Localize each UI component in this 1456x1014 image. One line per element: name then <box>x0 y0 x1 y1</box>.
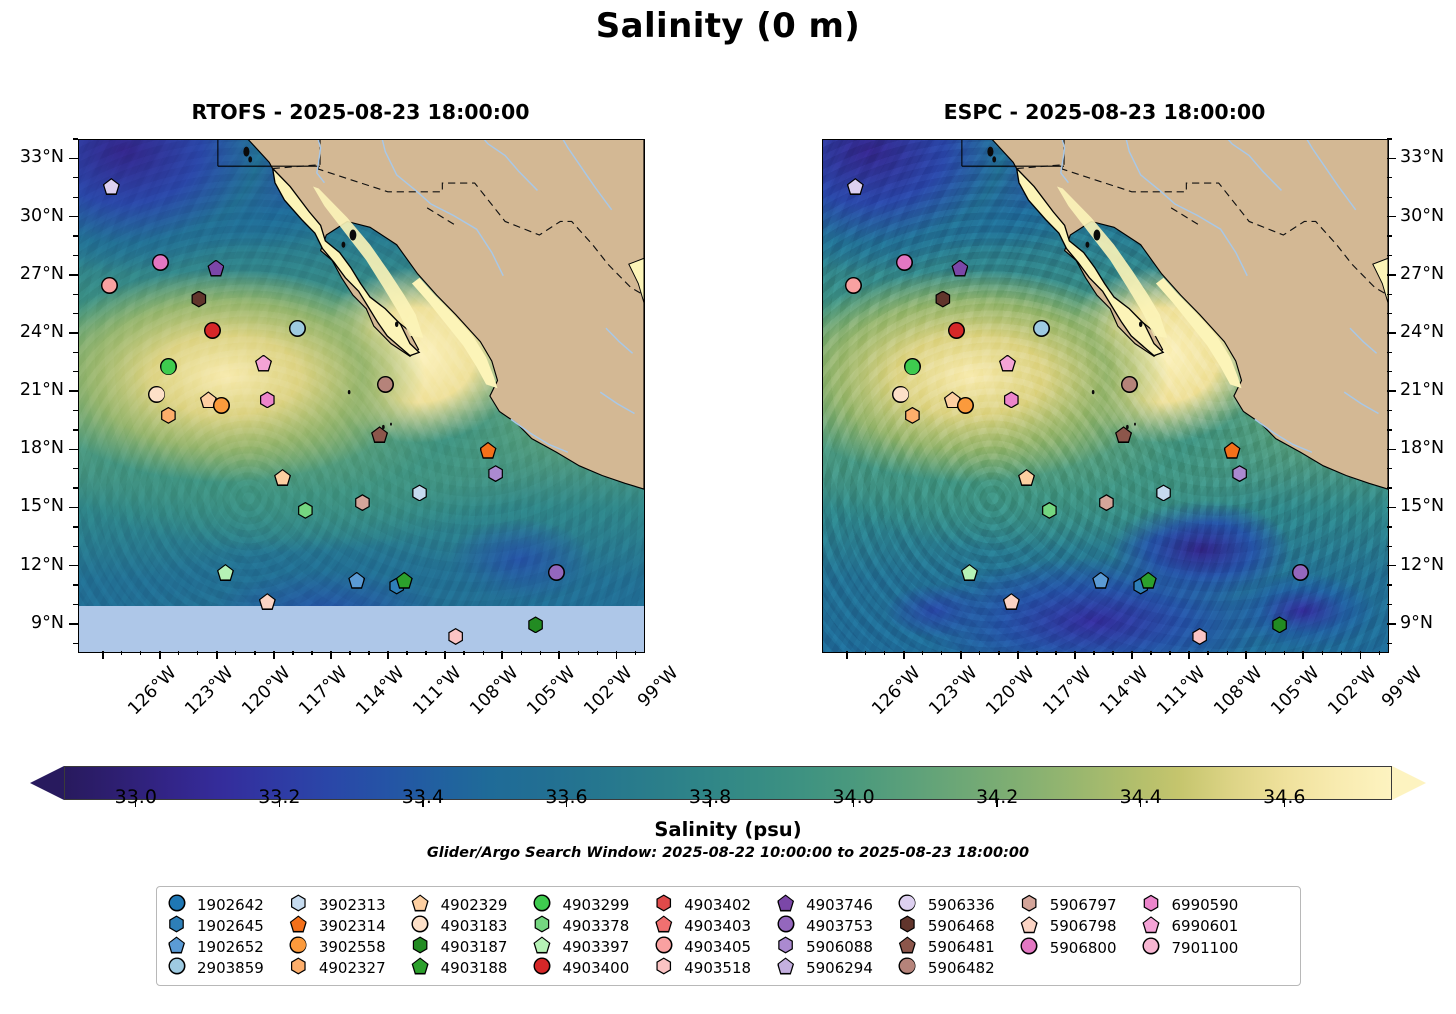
float-marker[interactable] <box>1018 469 1035 486</box>
y-tick <box>1387 390 1396 392</box>
legend-float-id: 3902558 <box>319 938 386 956</box>
legend-column: 5906336590646859064815906482 <box>899 894 995 978</box>
y-tick-label: 24°N <box>0 322 64 342</box>
x-minor-tick <box>1379 651 1380 655</box>
legend-marker-circle-icon <box>899 958 919 978</box>
x-minor-tick <box>941 651 942 655</box>
float-marker[interactable] <box>892 386 909 403</box>
float-marker[interactable] <box>1121 376 1138 393</box>
legend-float-id: 5906798 <box>1050 917 1117 935</box>
x-minor-tick <box>1169 651 1170 655</box>
legend-marker-circle-icon <box>168 958 188 978</box>
float-marker[interactable] <box>411 484 428 501</box>
legend-float-id: 4903183 <box>441 917 508 935</box>
float-marker[interactable] <box>204 322 221 339</box>
island <box>342 242 346 248</box>
float-marker[interactable] <box>348 572 365 589</box>
y-minor-tick <box>73 643 78 644</box>
float-marker[interactable] <box>207 260 224 277</box>
x-tick <box>558 651 560 659</box>
x-tick-label: 126°W <box>868 663 924 719</box>
x-tick-label: 126°W <box>124 663 180 719</box>
x-tick-label: 123°W <box>181 663 237 719</box>
y-tick <box>69 565 78 567</box>
float-marker[interactable] <box>1003 593 1020 610</box>
legend-float-id: 4903405 <box>684 938 751 956</box>
y-tick-label: 30°N <box>0 206 64 226</box>
x-tick-label: 105°W <box>524 663 580 719</box>
float-marker[interactable] <box>480 442 497 459</box>
x-tick-label: 117°W <box>1039 663 1095 719</box>
legend-item[interactable]: 2903859 <box>168 957 264 978</box>
y-tick-label: 9°N <box>1400 613 1456 633</box>
legend-spacer <box>629 894 655 978</box>
y-tick-label: 18°N <box>0 438 64 458</box>
legend-item[interactable]: 4903397 <box>533 936 629 957</box>
legend-column: 699059069906017901100 <box>1143 894 1239 978</box>
legend-spacer <box>751 894 777 978</box>
y-tick-label: 33°N <box>1400 147 1456 167</box>
legend-item[interactable]: 1902642 <box>168 894 264 915</box>
legend-float-id: 5906294 <box>806 959 873 977</box>
y-tick <box>1387 565 1396 567</box>
x-tick-label: 114°W <box>352 663 408 719</box>
x-tick-label: 111°W <box>1153 663 1209 719</box>
x-minor-tick <box>349 651 350 655</box>
legend-float-id: 5906800 <box>1050 939 1117 957</box>
float-marker[interactable] <box>259 391 276 408</box>
float-marker[interactable] <box>951 260 968 277</box>
y-minor-tick <box>1387 429 1392 430</box>
legend-marker-pentagon-icon <box>412 958 432 978</box>
float-marker[interactable] <box>904 358 921 375</box>
float-marker[interactable] <box>1191 628 1208 645</box>
float-marker[interactable] <box>101 277 118 294</box>
legend-item[interactable]: 4903299 <box>533 894 629 915</box>
x-tick-label: 102°W <box>581 663 637 719</box>
legend-spacer <box>873 894 899 978</box>
x-tick <box>330 651 332 659</box>
y-minor-tick <box>73 255 78 256</box>
x-minor-tick <box>884 651 885 655</box>
y-tick-label: 27°N <box>0 264 64 284</box>
legend-marker-circle-icon <box>1143 938 1163 958</box>
x-minor-tick <box>1093 651 1094 655</box>
float-marker[interactable] <box>160 358 177 375</box>
legend-marker-circle-icon <box>655 937 675 957</box>
legend-item[interactable]: 3902314 <box>290 915 386 936</box>
x-tick <box>1017 651 1019 659</box>
x-minor-tick <box>1207 651 1208 655</box>
legend-item[interactable]: 4902329 <box>412 894 508 915</box>
panel-title-rtofs: RTOFS - 2025-08-23 18:00:00 <box>78 100 643 124</box>
x-tick <box>501 651 503 659</box>
x-minor-tick <box>597 651 598 655</box>
colorbar-tick-label: 34.2 <box>952 786 1042 808</box>
float-marker[interactable] <box>1271 616 1288 633</box>
legend-column: 3902313390231439025584902327 <box>290 894 386 978</box>
x-tick <box>616 651 618 659</box>
y-tick <box>69 449 78 451</box>
legend-float-id: 5906481 <box>928 938 995 956</box>
y-tick <box>69 507 78 509</box>
legend-float-id: 6990601 <box>1172 917 1239 935</box>
legend-float-id: 4903397 <box>562 938 629 956</box>
y-minor-tick <box>73 410 78 411</box>
x-tick <box>1074 651 1076 659</box>
legend-marker-circle-icon <box>1021 938 1041 958</box>
legend-item[interactable]: 4902327 <box>290 957 386 978</box>
x-tick <box>960 651 962 659</box>
y-minor-tick <box>1387 177 1392 178</box>
float-marker[interactable] <box>1115 426 1132 443</box>
x-minor-tick <box>1227 651 1228 655</box>
colorbar-extend-min <box>30 766 64 800</box>
x-minor-tick <box>998 651 999 655</box>
legend-item[interactable]: 6990601 <box>1143 916 1239 938</box>
legend-float-id: 6990590 <box>1172 896 1239 914</box>
legend-item[interactable]: 5906336 <box>899 894 995 915</box>
legend-float-id: 7901100 <box>1172 939 1239 957</box>
float-marker[interactable] <box>148 386 165 403</box>
x-minor-tick <box>1322 651 1323 655</box>
x-minor-tick <box>254 651 255 655</box>
y-minor-tick <box>1387 546 1392 547</box>
legend-marker-hexagon-icon <box>655 895 675 915</box>
legend-marker-hexagon-icon <box>290 895 310 915</box>
y-tick <box>1387 274 1396 276</box>
x-tick <box>1188 651 1190 659</box>
float-marker[interactable] <box>957 397 974 414</box>
x-tick <box>1302 651 1304 659</box>
island <box>248 156 252 162</box>
legend-float-id: 4903402 <box>684 896 751 914</box>
legend-marker-circle-icon <box>412 916 432 936</box>
legend-marker-pentagon-icon <box>1021 916 1041 936</box>
float-marker[interactable] <box>527 616 544 633</box>
y-minor-tick <box>1387 468 1392 469</box>
legend-column: 4902329490318349031874903188 <box>412 894 508 978</box>
x-minor-tick <box>521 651 522 655</box>
float-marker[interactable] <box>1092 572 1109 589</box>
legend-float-id: 4903378 <box>562 917 629 935</box>
legend-item[interactable]: 5906088 <box>777 936 873 957</box>
legend-column: 4903402490340349034054903518 <box>655 894 751 978</box>
x-tick <box>1360 651 1362 659</box>
legend-item[interactable]: 3902313 <box>290 894 386 915</box>
legend-item[interactable]: 4903753 <box>777 915 873 936</box>
y-minor-tick <box>73 468 78 469</box>
island <box>348 390 351 394</box>
legend-item[interactable]: 4903378 <box>533 915 629 936</box>
float-marker[interactable] <box>896 254 913 271</box>
x-minor-tick <box>1036 651 1037 655</box>
x-minor-tick <box>979 651 980 655</box>
y-minor-tick <box>1387 643 1392 644</box>
float-marker[interactable] <box>948 322 965 339</box>
legend-float-id: 1902652 <box>197 938 264 956</box>
y-tick <box>1387 623 1396 625</box>
x-tick-label: 108°W <box>467 663 523 719</box>
x-tick-label: 105°W <box>1268 663 1324 719</box>
float-marker[interactable] <box>934 291 951 308</box>
float-marker[interactable] <box>371 426 388 443</box>
legend-spacer <box>995 894 1021 978</box>
legend-marker-pentagon-icon <box>168 937 188 957</box>
colorbar-tick-label: 33.0 <box>91 786 181 808</box>
float-marker[interactable] <box>255 355 272 372</box>
y-tick-label: 21°N <box>1400 380 1456 400</box>
legend-float-id: 4903400 <box>562 959 629 977</box>
x-tick-label: 111°W <box>409 663 465 719</box>
legend-item[interactable]: 5906800 <box>1021 937 1117 959</box>
legend-item[interactable]: 4903183 <box>412 915 508 936</box>
figure-title: Salinity (0 m) <box>0 6 1456 46</box>
y-minor-tick <box>1387 235 1392 236</box>
legend-marker-hexagon-icon <box>777 937 797 957</box>
legend-item[interactable]: 7901100 <box>1143 937 1239 959</box>
legend-item[interactable]: 5906797 <box>1021 894 1117 916</box>
float-marker[interactable] <box>904 407 921 424</box>
x-tick <box>159 651 161 659</box>
y-minor-tick <box>73 138 78 139</box>
x-minor-tick <box>235 651 236 655</box>
legend-marker-pentagon-icon <box>412 895 432 915</box>
legend-spacer <box>507 894 533 978</box>
legend-float-id: 4903518 <box>684 959 751 977</box>
legend-marker-circle-icon <box>290 937 310 957</box>
island <box>1134 423 1136 426</box>
float-marker[interactable] <box>999 355 1016 372</box>
float-id-legend[interactable]: 1902642190264519026522903859390231339023… <box>156 886 1301 986</box>
x-minor-tick <box>578 651 579 655</box>
legend-marker-hexagon-icon <box>899 916 919 936</box>
y-minor-tick <box>73 546 78 547</box>
float-marker[interactable] <box>845 277 862 294</box>
float-marker[interactable] <box>217 564 234 581</box>
legend-column: 4903746490375359060885906294 <box>777 894 873 978</box>
y-tick-label: 21°N <box>0 380 64 400</box>
y-minor-tick <box>73 197 78 198</box>
x-minor-tick <box>311 651 312 655</box>
legend-column: 590679759067985906800 <box>1021 894 1117 978</box>
float-marker[interactable] <box>1292 564 1309 581</box>
legend-item[interactable]: 6990590 <box>1143 894 1239 916</box>
legend-marker-circle-icon <box>168 895 188 915</box>
x-minor-tick <box>197 651 198 655</box>
legend-float-id: 4903299 <box>562 896 629 914</box>
legend-float-id: 5906482 <box>928 959 995 977</box>
y-minor-tick <box>1387 138 1392 139</box>
y-minor-tick <box>1387 526 1392 527</box>
legend-item[interactable]: 4903518 <box>655 957 751 978</box>
legend-item[interactable]: 4903403 <box>655 915 751 936</box>
y-minor-tick <box>1387 604 1392 605</box>
map-espc[interactable] <box>822 139 1389 653</box>
float-marker[interactable] <box>213 397 230 414</box>
legend-item[interactable]: 5906294 <box>777 957 873 978</box>
legend-column: 4903299490337849033974903400 <box>533 894 629 978</box>
legend-float-id: 5906336 <box>928 896 995 914</box>
legend-item[interactable]: 4903188 <box>412 957 508 978</box>
legend-item[interactable]: 5906798 <box>1021 916 1117 938</box>
y-minor-tick <box>1387 371 1392 372</box>
x-tick <box>903 651 905 659</box>
legend-item[interactable]: 5906482 <box>899 957 995 978</box>
legend-item[interactable]: 1902652 <box>168 936 264 957</box>
x-tick <box>216 651 218 659</box>
legend-marker-hexagon-icon <box>1143 895 1163 915</box>
y-minor-tick <box>73 235 78 236</box>
legend-item[interactable]: 5906468 <box>899 915 995 936</box>
float-marker[interactable] <box>487 465 504 482</box>
colorbar-subtitle: Glider/Argo Search Window: 2025-08-22 10… <box>0 845 1456 861</box>
float-marker[interactable] <box>1140 572 1157 589</box>
y-minor-tick <box>73 429 78 430</box>
float-marker[interactable] <box>1155 484 1172 501</box>
x-minor-tick <box>540 651 541 655</box>
x-minor-tick <box>865 651 866 655</box>
legend-marker-hexagon-icon <box>168 916 188 936</box>
legend-marker-hexagon-icon <box>533 916 553 936</box>
y-minor-tick <box>73 604 78 605</box>
y-minor-tick <box>73 352 78 353</box>
float-marker[interactable] <box>289 320 306 337</box>
island <box>1086 242 1090 248</box>
legend-item[interactable]: 4903405 <box>655 936 751 957</box>
y-tick <box>1387 332 1396 334</box>
float-marker[interactable] <box>152 254 169 271</box>
colorbar-tick-label: 34.6 <box>1239 786 1329 808</box>
y-tick <box>69 158 78 160</box>
y-tick-label: 9°N <box>0 613 64 633</box>
x-minor-tick <box>178 651 179 655</box>
legend-item[interactable]: 4903187 <box>412 936 508 957</box>
legend-float-id: 4902327 <box>319 959 386 977</box>
y-tick-label: 15°N <box>0 496 64 516</box>
legend-marker-pentagon-icon <box>1143 916 1163 936</box>
legend-column: 1902642190264519026522903859 <box>168 894 264 978</box>
float-marker[interactable] <box>1003 391 1020 408</box>
float-marker[interactable] <box>160 407 177 424</box>
y-tick-label: 27°N <box>1400 264 1456 284</box>
colorbar-tick-label: 33.2 <box>234 786 324 808</box>
y-minor-tick <box>73 294 78 295</box>
y-tick <box>69 274 78 276</box>
legend-marker-pentagon-icon <box>533 937 553 957</box>
x-minor-tick <box>1265 651 1266 655</box>
legend-float-id: 1902642 <box>197 896 264 914</box>
legend-float-id: 4903188 <box>441 959 508 977</box>
y-minor-tick <box>73 371 78 372</box>
float-marker[interactable] <box>103 178 120 195</box>
x-tick <box>102 651 104 659</box>
legend-marker-pentagon-icon <box>899 937 919 957</box>
float-marker[interactable] <box>1224 442 1241 459</box>
legend-float-id: 2903859 <box>197 959 264 977</box>
legend-item[interactable]: 1902645 <box>168 915 264 936</box>
x-tick-label: 108°W <box>1211 663 1267 719</box>
float-marker[interactable] <box>548 564 565 581</box>
float-marker[interactable] <box>354 494 371 511</box>
map-rtofs[interactable] <box>78 139 645 653</box>
x-tick-label: 99°W <box>1379 663 1427 711</box>
float-marker[interactable] <box>1041 502 1058 519</box>
legend-spacer <box>264 894 290 978</box>
float-marker[interactable] <box>190 291 207 308</box>
x-minor-tick <box>635 651 636 655</box>
y-minor-tick <box>1387 352 1392 353</box>
float-marker[interactable] <box>297 502 314 519</box>
x-tick-label: 102°W <box>1325 663 1381 719</box>
y-minor-tick <box>1387 410 1392 411</box>
y-tick <box>1387 216 1396 218</box>
legend-item[interactable]: 5906481 <box>899 936 995 957</box>
x-minor-tick <box>292 651 293 655</box>
y-minor-tick <box>1387 294 1392 295</box>
legend-item[interactable]: 4903400 <box>533 957 629 978</box>
y-minor-tick <box>73 584 78 585</box>
float-marker[interactable] <box>961 564 978 581</box>
y-tick-label: 12°N <box>1400 555 1456 575</box>
x-minor-tick <box>483 651 484 655</box>
x-minor-tick <box>1341 651 1342 655</box>
x-minor-tick <box>140 651 141 655</box>
legend-float-id: 4903753 <box>806 917 873 935</box>
legend-marker-pentagon-icon <box>655 916 675 936</box>
island <box>1094 229 1101 240</box>
x-minor-tick <box>425 651 426 655</box>
float-marker[interactable] <box>447 628 464 645</box>
island <box>1092 390 1095 394</box>
island <box>1139 321 1142 327</box>
colorbar-tick-label: 33.4 <box>378 786 468 808</box>
colorbar-tick-label: 33.6 <box>521 786 611 808</box>
panel-title-espc: ESPC - 2025-08-23 18:00:00 <box>822 100 1387 124</box>
float-marker[interactable] <box>396 572 413 589</box>
float-marker[interactable] <box>1098 494 1115 511</box>
legend-item[interactable]: 3902558 <box>290 936 386 957</box>
float-marker[interactable] <box>847 178 864 195</box>
legend-float-id: 3902314 <box>319 917 386 935</box>
legend-marker-circle-icon <box>533 958 553 978</box>
x-tick <box>387 651 389 659</box>
x-minor-tick <box>463 651 464 655</box>
float-marker[interactable] <box>1033 320 1050 337</box>
legend-item[interactable]: 4903746 <box>777 894 873 915</box>
colorbar-extend-max <box>1392 766 1426 800</box>
y-tick <box>1387 449 1396 451</box>
legend-marker-circle-icon <box>899 895 919 915</box>
float-marker[interactable] <box>377 376 394 393</box>
y-minor-tick <box>1387 255 1392 256</box>
float-marker[interactable] <box>259 593 276 610</box>
legend-marker-circle-icon <box>777 916 797 936</box>
float-marker[interactable] <box>1231 465 1248 482</box>
legend-float-id: 4902329 <box>441 896 508 914</box>
x-minor-tick <box>406 651 407 655</box>
legend-float-id: 3902313 <box>319 896 386 914</box>
colorbar-tick-label: 34.4 <box>1096 786 1186 808</box>
x-minor-tick <box>1055 651 1056 655</box>
y-minor-tick <box>1387 487 1392 488</box>
island <box>243 147 249 157</box>
legend-float-id: 5906797 <box>1050 896 1117 914</box>
y-tick-label: 12°N <box>0 555 64 575</box>
legend-item[interactable]: 4903402 <box>655 894 751 915</box>
float-marker[interactable] <box>274 469 291 486</box>
y-minor-tick <box>1387 584 1392 585</box>
